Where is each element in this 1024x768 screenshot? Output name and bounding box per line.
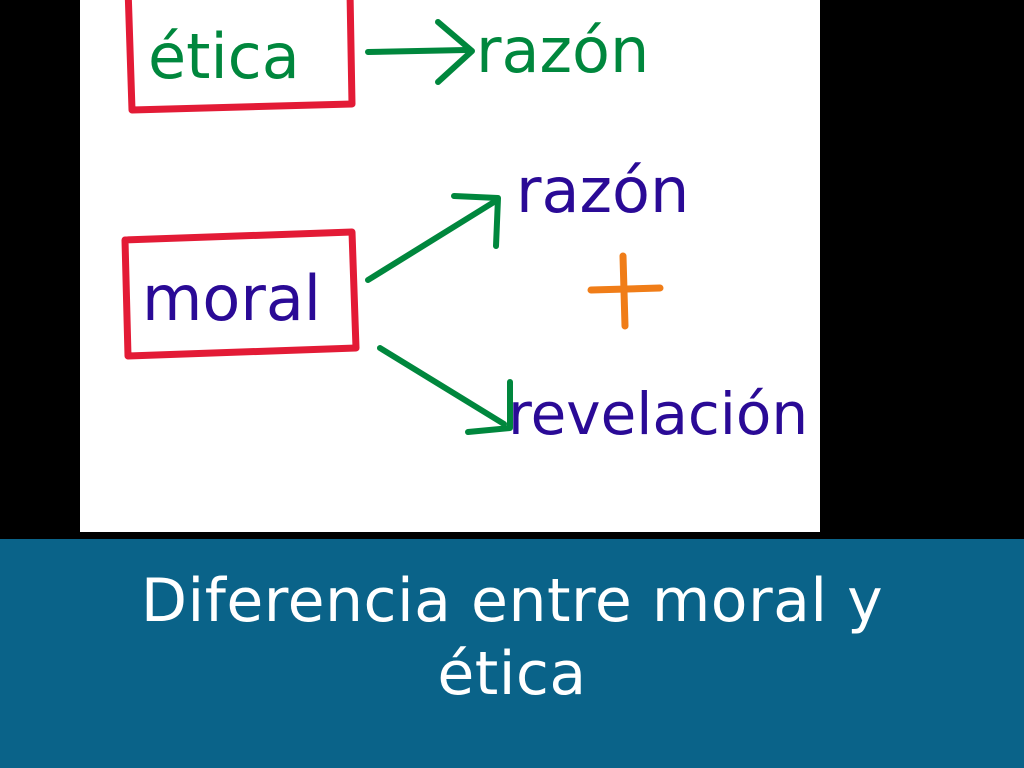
- slide-stage: ética razón moral razón: [0, 0, 1024, 768]
- edge-etica-to-razon: [368, 22, 472, 82]
- node-label-razon-etica: razón: [476, 14, 649, 87]
- diagram-canvas: ética razón moral razón: [80, 0, 820, 532]
- node-label-revelacion: revelación: [508, 380, 808, 448]
- plus-sign: [591, 256, 660, 326]
- node-label-moral: moral: [142, 262, 321, 335]
- edge-moral-to-razon: [368, 196, 498, 280]
- node-label-razon-moral: razón: [516, 154, 689, 227]
- node-label-etica: ética: [148, 20, 300, 93]
- diagram-board: ética razón moral razón: [80, 0, 820, 532]
- edge-moral-razon-shaft: [368, 202, 494, 280]
- caption-title: Diferencia entre moral y ética: [62, 565, 962, 711]
- edge-etica-shaft: [368, 50, 466, 52]
- edge-moral-to-revelacion: [380, 348, 510, 432]
- plus-horizontal-stroke: [591, 288, 660, 290]
- edge-moral-revelacion-shaft: [380, 348, 504, 424]
- caption-bar: Diferencia entre moral y ética: [0, 539, 1024, 768]
